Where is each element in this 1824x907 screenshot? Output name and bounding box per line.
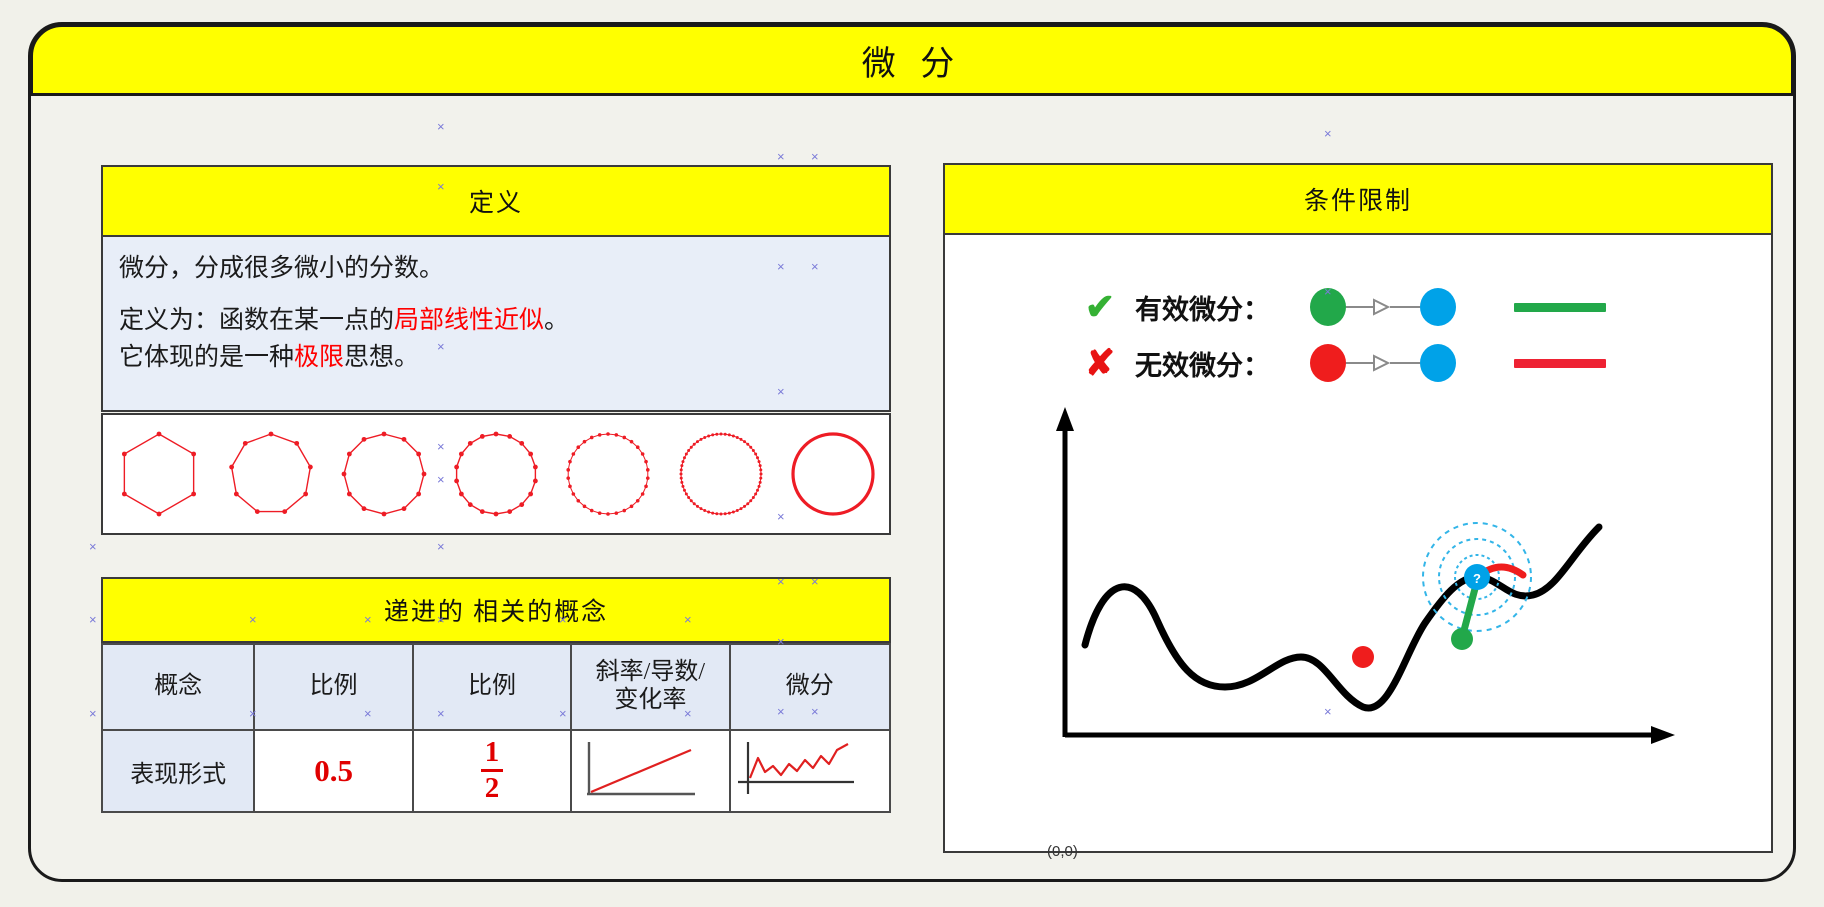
th-slope-line1: 斜率/导数/ — [596, 659, 705, 685]
definition-line-2-suffix: 。 — [544, 307, 569, 334]
selection-handle — [368, 715, 373, 720]
polygon-shape-6 — [781, 422, 885, 526]
selection-handle — [253, 621, 258, 626]
selection-handle — [815, 713, 820, 718]
check-icon: ✔ — [1075, 286, 1125, 328]
slope-sketch-svg — [573, 738, 703, 804]
td-fraction: 1 2 — [413, 730, 571, 812]
polygon-shape-3 — [444, 422, 548, 526]
definition-line-3-prefix: 它体现的是一种 — [119, 344, 294, 371]
legend-arrow-valid — [1346, 297, 1420, 317]
selection-handle — [781, 643, 786, 648]
concept-table-header-label: 递进的 相关的概念 — [384, 592, 608, 628]
fraction-numerator: 1 — [481, 738, 504, 769]
svg-text:?: ? — [1473, 571, 1481, 586]
concept-table-header: 递进的 相关的概念 — [101, 577, 891, 643]
legend-row-valid: ✔ 有效微分： — [1075, 285, 1606, 329]
polygon-shape-2 — [332, 422, 436, 526]
selection-handle — [93, 715, 98, 720]
td-row-label: 表现形式 — [102, 730, 254, 812]
legend-bar-green — [1514, 303, 1606, 312]
legend-label-invalid: 无效微分： — [1135, 344, 1310, 383]
condition-panel-header: 条件限制 — [943, 163, 1773, 235]
definition-panel-header-label: 定义 — [469, 183, 523, 219]
table-row: 表现形式 0.5 1 2 — [102, 730, 890, 812]
definition-line-2-prefix: 定义为：函数在某一点的 — [119, 307, 394, 334]
selection-handle — [1328, 713, 1333, 718]
cross-icon: ✘ — [1075, 342, 1125, 384]
th-slope: 斜率/导数/ 变化率 — [571, 644, 729, 730]
selection-handle — [688, 621, 693, 626]
selection-handle — [441, 548, 446, 553]
legend-bar-red — [1514, 359, 1606, 368]
th-concept: 概念 — [102, 644, 254, 730]
selection-handle — [441, 448, 446, 453]
td-differential-sketch — [730, 730, 890, 812]
polygon-shape-5 — [669, 422, 773, 526]
condition-panel-header-label: 条件限制 — [1304, 181, 1412, 217]
polygon-limit-illustration — [101, 413, 891, 535]
differential-chart: ? (0,0) — [985, 395, 1685, 775]
selection-handle — [441, 348, 446, 353]
selection-handle — [1328, 293, 1333, 298]
selection-handle — [1328, 135, 1333, 140]
definition-line-3: 它体现的是一种极限思想。 — [119, 340, 873, 376]
fraction-denominator: 2 — [481, 769, 504, 803]
selection-handle — [441, 621, 446, 626]
slide-title-bar: 微 分 — [30, 24, 1794, 96]
concept-table: 概念 比例 比例 斜率/导数/ 变化率 微分 表现形式 0.5 1 2 — [101, 643, 891, 813]
selection-handle — [781, 393, 786, 398]
selection-handle — [781, 158, 786, 163]
th-ratio-decimal: 比例 — [254, 644, 412, 730]
legend-arrow-invalid — [1346, 353, 1420, 373]
condition-panel-body: ✔ 有效微分： ✘ 无效微分： — [943, 235, 1773, 853]
decimal-value: 0.5 — [314, 753, 353, 788]
selection-handle — [781, 518, 786, 523]
selection-handle — [441, 715, 446, 720]
selection-handle — [93, 548, 98, 553]
definition-line-2-highlight: 局部线性近似 — [394, 307, 544, 334]
selection-handle — [253, 715, 258, 720]
differential-sketch-svg — [732, 738, 862, 804]
definition-line-3-highlight: 极限 — [294, 344, 344, 371]
td-decimal: 0.5 — [254, 730, 412, 812]
page-title: 微 分 — [862, 36, 963, 85]
selection-handle — [815, 158, 820, 163]
definition-line-2: 定义为：函数在某一点的局部线性近似。 — [119, 303, 873, 339]
selection-handle — [781, 713, 786, 718]
polygon-shape-1 — [219, 422, 323, 526]
selection-handle — [563, 715, 568, 720]
definition-spacer — [119, 287, 873, 303]
definition-line-1: 微分，分成很多微小的分数。 — [119, 251, 873, 287]
legend-row-invalid: ✘ 无效微分： — [1075, 341, 1606, 385]
differential-chart-svg: ? — [985, 395, 1685, 775]
definition-panel-body: 微分，分成很多微小的分数。 定义为：函数在某一点的局部线性近似。 它体现的是一种… — [101, 237, 891, 412]
selection-handle — [781, 268, 786, 273]
fraction-value: 1 2 — [481, 738, 504, 803]
selection-handle — [441, 188, 446, 193]
selection-handle — [93, 621, 98, 626]
selection-handle — [781, 583, 786, 588]
legend-dot-red — [1310, 344, 1346, 382]
selection-handle — [815, 268, 820, 273]
origin-label: (0,0) — [1047, 843, 1078, 860]
legend-label-valid: 有效微分： — [1135, 288, 1310, 327]
selection-handle — [815, 583, 820, 588]
td-slope-sketch — [571, 730, 729, 812]
selection-handle — [441, 128, 446, 133]
legend-dot-blue-valid — [1420, 288, 1456, 326]
selection-handle — [688, 715, 693, 720]
definition-panel-header: 定义 — [101, 165, 891, 237]
legend-dot-blue-invalid — [1420, 344, 1456, 382]
selection-handle — [441, 481, 446, 486]
th-slope-line2: 变化率 — [614, 687, 686, 713]
definition-line-3-suffix: 思想。 — [344, 344, 419, 371]
table-header-row: 概念 比例 比例 斜率/导数/ 变化率 微分 — [102, 644, 890, 730]
th-differential: 微分 — [730, 644, 890, 730]
polygon-shape-4 — [556, 422, 660, 526]
polygon-shape-0 — [107, 422, 211, 526]
selection-handle — [368, 621, 373, 626]
slide-canvas: 微 分 定义 微分，分成很多微小的分数。 定义为：函数在某一点的局部线性近似。 … — [28, 22, 1796, 882]
selection-handle — [563, 621, 568, 626]
